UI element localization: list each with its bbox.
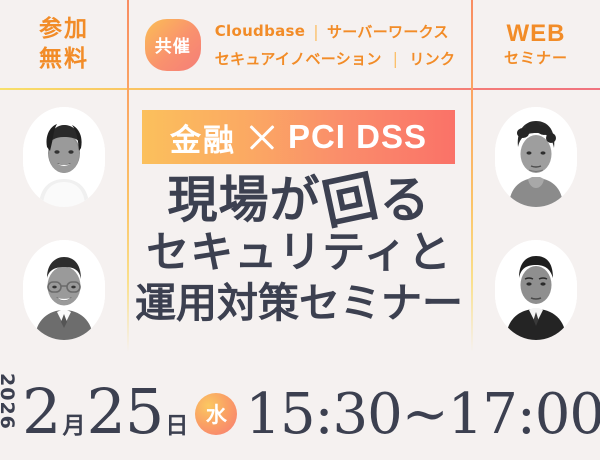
topic-english-label: PCI DSS (288, 118, 427, 156)
speaker-3-avatar (495, 107, 577, 207)
free-participation-cell: 参加 無料 (0, 0, 128, 89)
sponsor-row-2: セキュアイノベーション | リンク (215, 48, 456, 69)
event-year: 2026 (0, 373, 18, 430)
seminar-label: セミナー (504, 48, 568, 69)
sponsor-row-1: Cloudbase | サーバーワークス (215, 21, 456, 42)
speaker-photo-4 (495, 240, 577, 340)
sponsor-serverworks: サーバーワークス (327, 21, 449, 42)
event-day-number: 25 (86, 381, 163, 443)
seminar-banner: 参加 無料 共催 Cloudbase | サーバーワークス セキュアイノベーショ… (0, 0, 600, 460)
speaker-2-avatar (23, 240, 105, 340)
weekday-badge: 水 (195, 393, 237, 435)
horizontal-divider (0, 88, 600, 90)
web-seminar-cell: WEB セミナー (472, 0, 600, 89)
vertical-divider-left (127, 0, 129, 352)
sponsor-separator-2: | (393, 49, 399, 68)
event-month-unit: 月 (62, 406, 85, 440)
co-host-cell: 共催 Cloudbase | サーバーワークス セキュアイノベーション | リン… (128, 0, 472, 89)
event-month-number: 2 (22, 381, 60, 443)
headline-line-3: 運用対策セミナー (132, 281, 466, 327)
speaker-photo-3 (495, 107, 577, 207)
headline-line1-part-b: る (380, 174, 431, 226)
sponsor-link: リンク (409, 48, 455, 69)
headline-line1-part-a: 現場が (168, 174, 321, 226)
speaker-4-avatar (495, 240, 577, 340)
headline-line-2: セキュリティと (132, 230, 466, 278)
sponsor-separator-1: | (313, 22, 319, 41)
topic-strip: 金融 PCI DSS (142, 110, 455, 164)
sponsor-list: Cloudbase | サーバーワークス セキュアイノベーション | リンク (215, 21, 456, 69)
headline-line-1: 現場が 回 る (132, 172, 466, 228)
event-day-unit: 日 (165, 406, 188, 440)
headline-tilted-kanji: 回 (317, 167, 382, 233)
co-host-badge: 共催 (145, 19, 201, 71)
web-label: WEB (507, 20, 566, 48)
topic-japanese-label: 金融 (170, 115, 236, 160)
free-label-line1: 参加 (39, 15, 89, 44)
vertical-divider-right (471, 0, 473, 352)
date-bar: 2026 2 月 25 日 水 15:30~17:00 (0, 360, 600, 460)
sponsor-cloudbase: Cloudbase (215, 22, 306, 40)
speaker-photo-2 (23, 240, 105, 340)
sponsor-secure-innovation: セキュアイノベーション (215, 48, 382, 69)
event-time: 15:30~17:00 (245, 387, 600, 443)
headline: 現場が 回 る セキュリティと 運用対策セミナー (132, 172, 466, 327)
date-line: 2026 2 月 25 日 水 15:30~17:00 (0, 377, 600, 444)
free-label-line2: 無料 (39, 45, 89, 74)
speaker-photo-1 (23, 107, 105, 207)
header-bar: 参加 無料 共催 Cloudbase | サーバーワークス セキュアイノベーショ… (0, 0, 600, 89)
speaker-1-avatar (23, 107, 105, 207)
multiply-icon (247, 122, 277, 152)
